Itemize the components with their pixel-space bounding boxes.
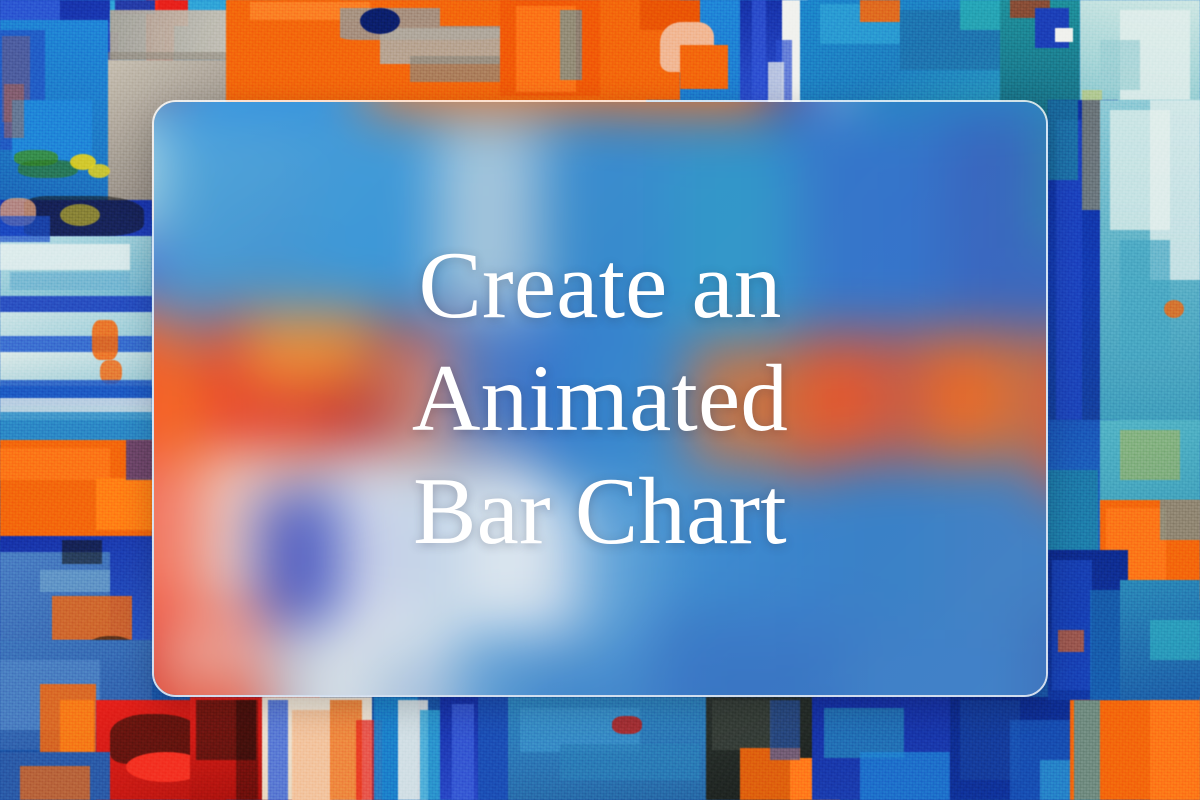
paint-stroke <box>360 8 400 34</box>
paint-stroke <box>1058 630 1084 652</box>
page-title: Create an Animated Bar Chart <box>154 102 1046 695</box>
paint-stroke <box>40 570 110 592</box>
paint-stroke <box>1164 300 1184 318</box>
paint-stroke <box>1100 40 1140 90</box>
paint-stroke <box>1048 100 1078 180</box>
paint-stroke <box>268 700 288 800</box>
title-line-1: Create an <box>418 229 781 342</box>
paint-stroke <box>60 700 94 760</box>
paint-stroke <box>4 84 24 138</box>
paint-stroke <box>680 45 728 89</box>
paint-stroke <box>768 62 784 104</box>
paint-stroke <box>92 320 118 360</box>
paint-stroke <box>1120 430 1180 480</box>
paint-stroke <box>1120 240 1170 360</box>
paint-stroke <box>0 244 130 270</box>
paint-stroke <box>18 160 78 178</box>
paint-stroke <box>860 752 950 800</box>
paint-stroke <box>1082 90 1102 210</box>
paint-stroke <box>712 700 772 750</box>
paint-stroke <box>88 164 110 178</box>
title-card-image: Create an Animated Bar Chart <box>0 0 1200 800</box>
paint-stroke <box>1052 560 1092 690</box>
paint-stroke <box>1074 700 1100 800</box>
paint-stroke <box>1150 620 1200 660</box>
paint-stroke <box>236 700 258 800</box>
paint-stroke <box>0 448 110 480</box>
paint-stroke <box>560 10 582 80</box>
paint-stroke <box>612 716 642 734</box>
paint-stroke <box>752 0 766 100</box>
paint-stroke <box>1048 470 1098 550</box>
paint-stroke <box>292 710 332 800</box>
paint-stroke <box>860 0 900 22</box>
paint-stroke <box>60 204 100 226</box>
paint-stroke <box>1055 28 1073 42</box>
paint-stroke <box>560 744 700 780</box>
paint-stroke <box>824 708 904 758</box>
paint-stroke <box>52 596 132 640</box>
paint-stroke <box>0 216 50 242</box>
paint-stroke <box>126 440 152 480</box>
paint-stroke <box>96 478 152 530</box>
paint-stroke <box>770 700 800 760</box>
paint-stroke <box>62 540 102 564</box>
paint-stroke <box>20 766 90 800</box>
paint-stroke <box>10 272 130 290</box>
frosted-glass-card: Create an Animated Bar Chart <box>152 100 1048 697</box>
title-line-2: Animated <box>412 342 788 455</box>
paint-stroke <box>1160 500 1200 540</box>
title-line-3: Bar Chart <box>413 455 787 568</box>
paint-stroke <box>1150 700 1200 800</box>
paint-stroke <box>452 704 474 800</box>
